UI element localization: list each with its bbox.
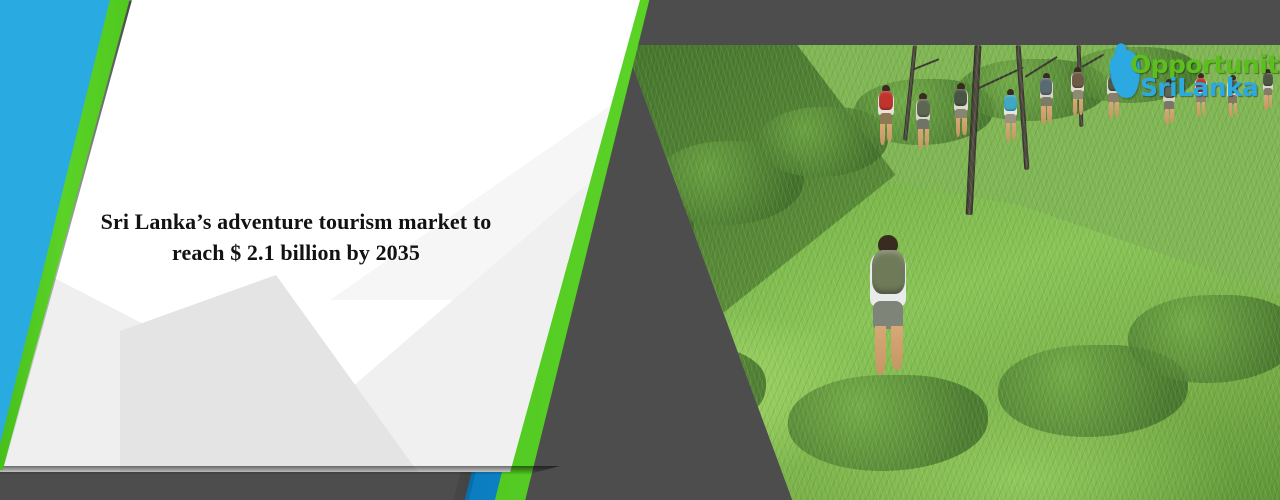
hiker-leg [918,129,923,149]
panel-bottom-shadow [0,466,560,475]
headline-line-2: reach $ 2.1 billion by 2035 [96,237,496,268]
hiker [874,85,898,152]
hiker-backpack [1004,95,1016,112]
hiker-backpack [1040,78,1052,94]
hiker-leg [1170,109,1174,124]
headline-text: Sri Lanka’s adventure tourism market to … [96,206,496,268]
hiker-legs [1073,99,1083,116]
logo-word-srilanka: SriLanka [1140,73,1258,102]
hiker [1068,67,1088,123]
hiker-leg [1047,106,1051,122]
hiker-leg [875,326,887,376]
hiker [1000,89,1021,149]
hiker-leg [962,118,966,135]
hiker-backpack [1072,72,1084,88]
hiker-backpack [954,89,967,106]
hiker-backpack [872,250,905,295]
hiker-leg [1079,99,1083,115]
hiker-leg [887,124,892,143]
tourism-news-banner: Sri Lanka’s adventure tourism market to … [0,0,1280,500]
hiker-legs [875,326,903,376]
hiker-legs [1041,106,1051,124]
hiker-leg [956,118,960,137]
hiker-legs [918,129,929,149]
hiker [860,235,916,393]
hiker-leg [1073,99,1077,116]
hiker-leg [1012,123,1016,140]
hiker-leg [891,326,903,371]
hiker-leg [1165,109,1169,125]
hiking-photo [568,45,1280,500]
hiker-legs [1165,109,1174,125]
hiker-leg [880,124,885,145]
hiker [950,83,972,144]
headline-line-1: Sri Lanka’s adventure tourism market to [96,206,496,237]
hiker [912,93,934,156]
hiker-leg [1041,106,1045,124]
hiker-legs [1006,123,1017,142]
hiker-backpack [917,99,930,117]
hiker-backpack [879,91,893,110]
hiker-leg [925,129,930,147]
hiker-legs [956,118,967,137]
hiker-legs [880,124,892,145]
hiker-leg [1006,123,1010,142]
hiker [1036,73,1056,131]
opportunity-srilanka-logo[interactable]: Opportunity SriLanka [1108,48,1274,106]
